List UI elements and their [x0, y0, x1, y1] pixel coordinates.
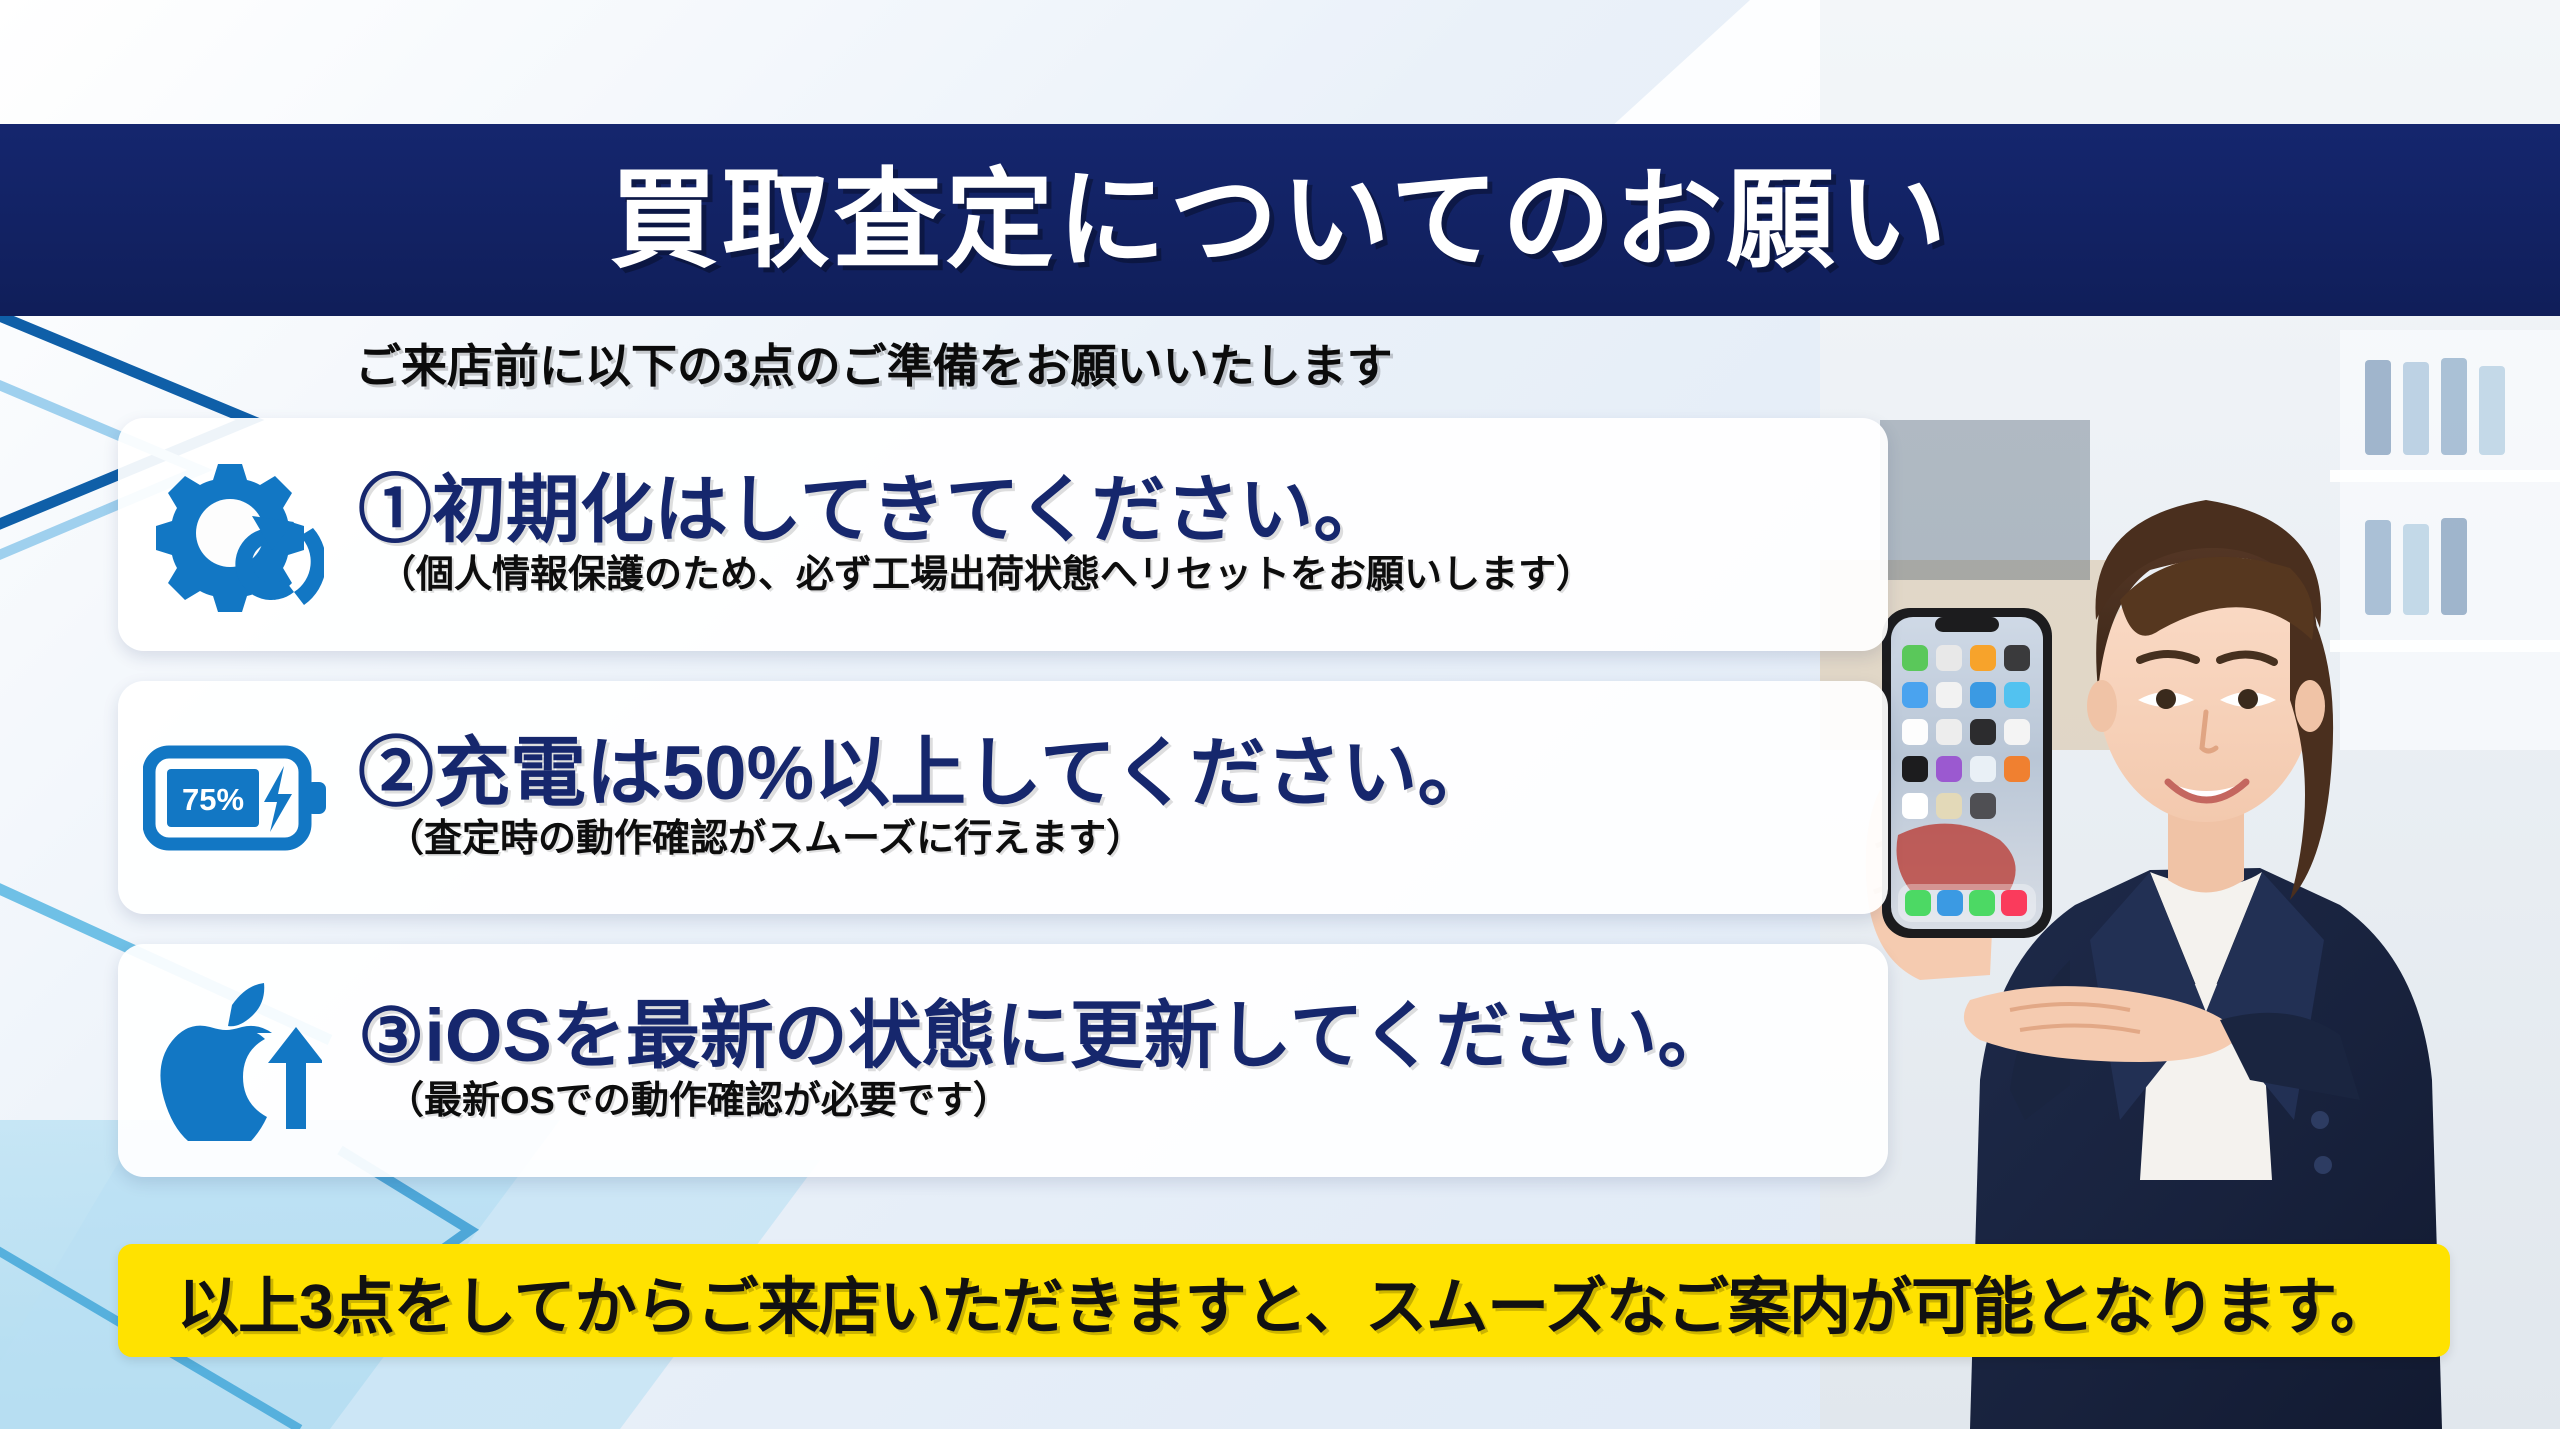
gear-reset-icon — [152, 456, 324, 614]
iphone-device — [1882, 608, 2052, 938]
instruction-card-battery: 75% ②充電は50%以上してください。 （査定時の動作確認がスムーズに行えます… — [118, 681, 1888, 914]
card-1-body: ①初期化はしてきてください。 （個人情報保護のため、必ず工場出荷状態へリセットを… — [358, 472, 1888, 597]
instruction-card-list: ①初期化はしてきてください。 （個人情報保護のため、必ず工場出荷状態へリセットを… — [118, 418, 1888, 1207]
apple-logo-icon — [160, 983, 272, 1141]
battery-charging-icon: 75% — [143, 742, 333, 854]
title-banner: 買取査定についてのお願い — [0, 124, 2560, 316]
card-1-note: （個人情報保護のため、必ず工場出荷状態へリセットをお願いします） — [378, 555, 1868, 597]
update-arrow-icon — [268, 1027, 322, 1129]
apple-update-icon — [154, 981, 322, 1141]
card-2-icon-slot: 75% — [118, 681, 358, 914]
card-2-headline: ②充電は50%以上してください。 — [358, 734, 1868, 813]
footer-text: 以上3点をしてからご来店いただきますと、スムーズなご案内が可能となります。 — [177, 1256, 2391, 1346]
card-2-body: ②充電は50%以上してください。 （査定時の動作確認がスムーズに行えます） — [358, 734, 1888, 861]
card-3-body: ③iOSを最新の状態に更新してください。 （最新OSでの動作確認が必要です） — [358, 998, 1888, 1123]
card-3-icon-slot — [118, 944, 358, 1177]
banner-stage: 買取査定についてのお願い ご来店前に以下の3点のご準備をお願いいたします — [0, 0, 2560, 1429]
footer-highlight-banner: 以上3点をしてからご来店いただきますと、スムーズなご案内が可能となります。 — [118, 1244, 2450, 1357]
card-2-note: （査定時の動作確認がスムーズに行えます） — [386, 819, 1868, 861]
card-3-headline: ③iOSを最新の状態に更新してください。 — [358, 998, 1868, 1075]
page-title: 買取査定についてのお願い — [610, 166, 1951, 274]
card-1-icon-slot — [118, 418, 358, 651]
card-3-note: （最新OSでの動作確認が必要です） — [386, 1081, 1868, 1123]
card-1-headline: ①初期化はしてきてください。 — [358, 472, 1868, 549]
instruction-card-initialize: ①初期化はしてきてください。 （個人情報保護のため、必ず工場出荷状態へリセットを… — [118, 418, 1888, 651]
instruction-card-ios-update: ③iOSを最新の状態に更新してください。 （最新OSでの動作確認が必要です） — [118, 944, 1888, 1177]
subtitle-text: ご来店前に以下の3点のご準備をお願いいたします — [355, 330, 1393, 396]
battery-percent-label: 75% — [182, 782, 244, 817]
